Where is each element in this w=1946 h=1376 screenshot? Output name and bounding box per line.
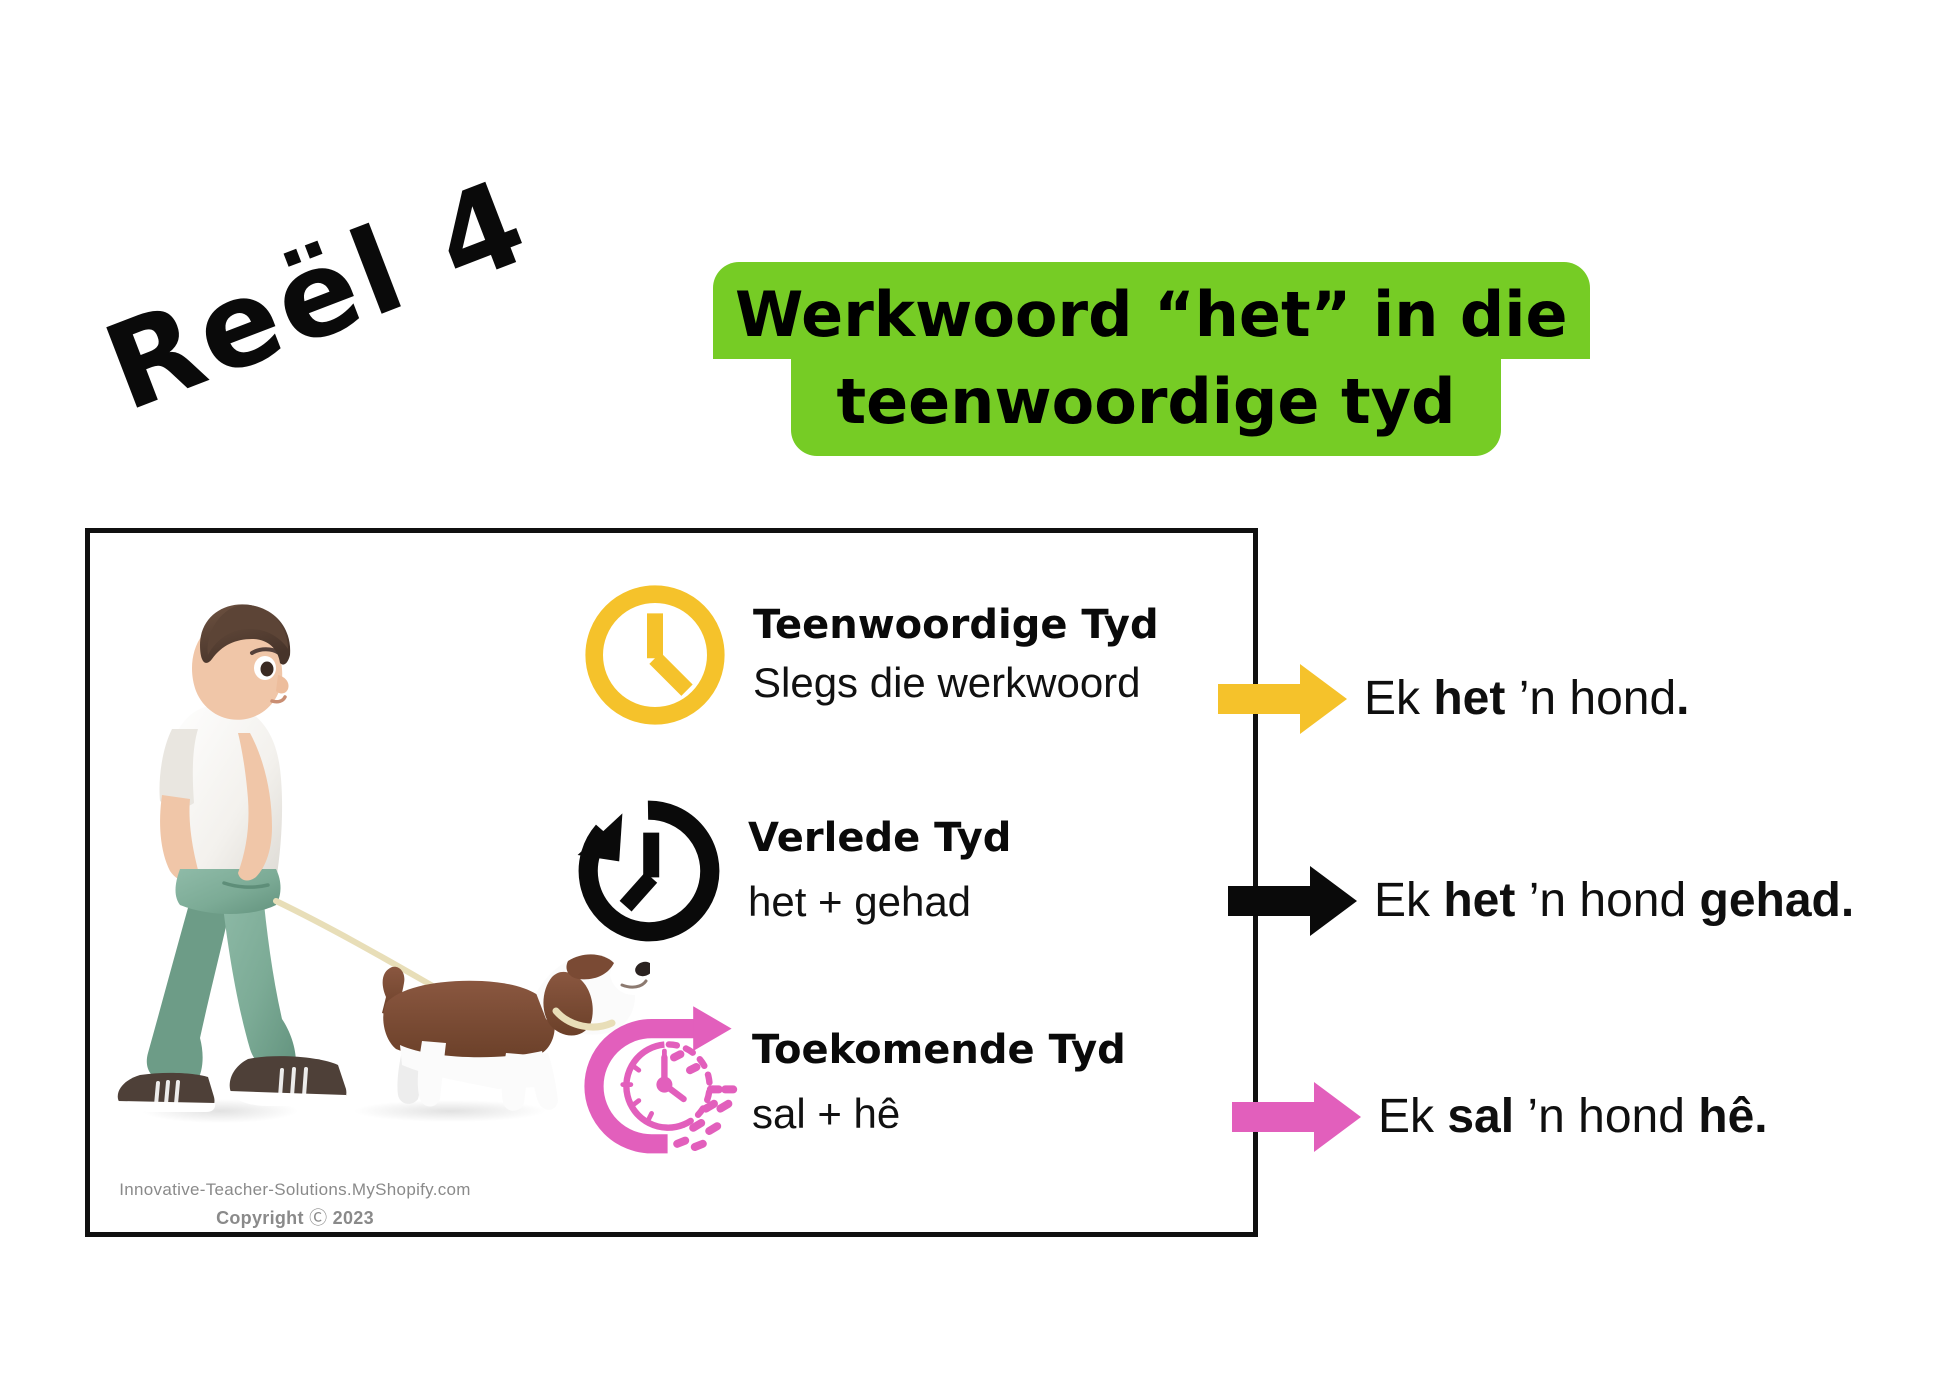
- clock-icon: [575, 575, 735, 735]
- sentence-bold-verb: het: [1433, 672, 1505, 725]
- tense-row-future: Toekomende Tyd sal + hê: [578, 1003, 1126, 1163]
- clock-forward-icon: [578, 1003, 738, 1163]
- tense-title-future: Toekomende Tyd: [752, 1028, 1126, 1072]
- clock-rewind-icon: [568, 791, 728, 951]
- sentence-bold-verb: het: [1443, 874, 1515, 927]
- sentence-bold-tail: gehad.: [1700, 874, 1855, 927]
- sentence-before: Ek: [1364, 672, 1433, 725]
- arrow-right-icon: [1228, 862, 1358, 940]
- example-past: Ek het ’n hond gehad.: [1228, 862, 1854, 940]
- copyright-year: 2023: [327, 1208, 374, 1228]
- example-sentence-future: Ek sal ’n hond hê.: [1378, 1091, 1768, 1144]
- banner-title-line-1: Werkwoord “het” in die: [713, 262, 1590, 359]
- credit-block: Innovative-Teacher-Solutions.MyShopify.c…: [115, 1177, 475, 1232]
- rule-title: Reël 4: [76, 93, 633, 466]
- credit-copyright: Copyright Ⓒ 2023: [115, 1205, 475, 1232]
- copyright-prefix: Copyright: [216, 1208, 309, 1228]
- credit-site-url: Innovative-Teacher-Solutions.MyShopify.c…: [115, 1177, 475, 1203]
- content-box: Teenwoordige Tyd Slegs die werkwoord Ver…: [85, 528, 1258, 1237]
- sentence-before: Ek: [1378, 1090, 1447, 1143]
- arrow-right-icon: [1218, 660, 1348, 738]
- lesson-title-banner: Werkwoord “het” in die teenwoordige tyd: [713, 262, 1590, 456]
- arrow-right-icon: [1232, 1078, 1362, 1156]
- banner-title-line-2: teenwoordige tyd: [791, 359, 1501, 456]
- tense-row-present: Teenwoordige Tyd Slegs die werkwoord: [575, 575, 1159, 735]
- sentence-bold-tail: .: [1676, 672, 1689, 725]
- example-future: Ek sal ’n hond hê.: [1232, 1078, 1768, 1156]
- example-sentence-present: Ek het ’n hond.: [1364, 673, 1690, 726]
- sentence-before: Ek: [1374, 874, 1443, 927]
- example-present: Ek het ’n hond.: [1218, 660, 1690, 738]
- sentence-middle: ’n hond: [1505, 672, 1676, 725]
- sentence-middle: ’n hond: [1515, 874, 1699, 927]
- sentence-bold-tail: hê.: [1698, 1090, 1767, 1143]
- copyright-symbol-icon: Ⓒ: [309, 1208, 327, 1228]
- tense-formula-future: sal + hê: [752, 1090, 1126, 1138]
- tense-formula-present: Slegs die werkwoord: [753, 659, 1159, 707]
- example-sentence-past: Ek het ’n hond gehad.: [1374, 875, 1854, 928]
- sentence-middle: ’n hond: [1514, 1090, 1698, 1143]
- tense-formula-past: het + gehad: [748, 878, 1011, 926]
- tense-title-past: Verlede Tyd: [748, 816, 1011, 860]
- sentence-bold-verb: sal: [1447, 1090, 1514, 1143]
- tense-title-present: Teenwoordige Tyd: [753, 603, 1159, 647]
- tense-row-past: Verlede Tyd het + gehad: [568, 791, 1011, 951]
